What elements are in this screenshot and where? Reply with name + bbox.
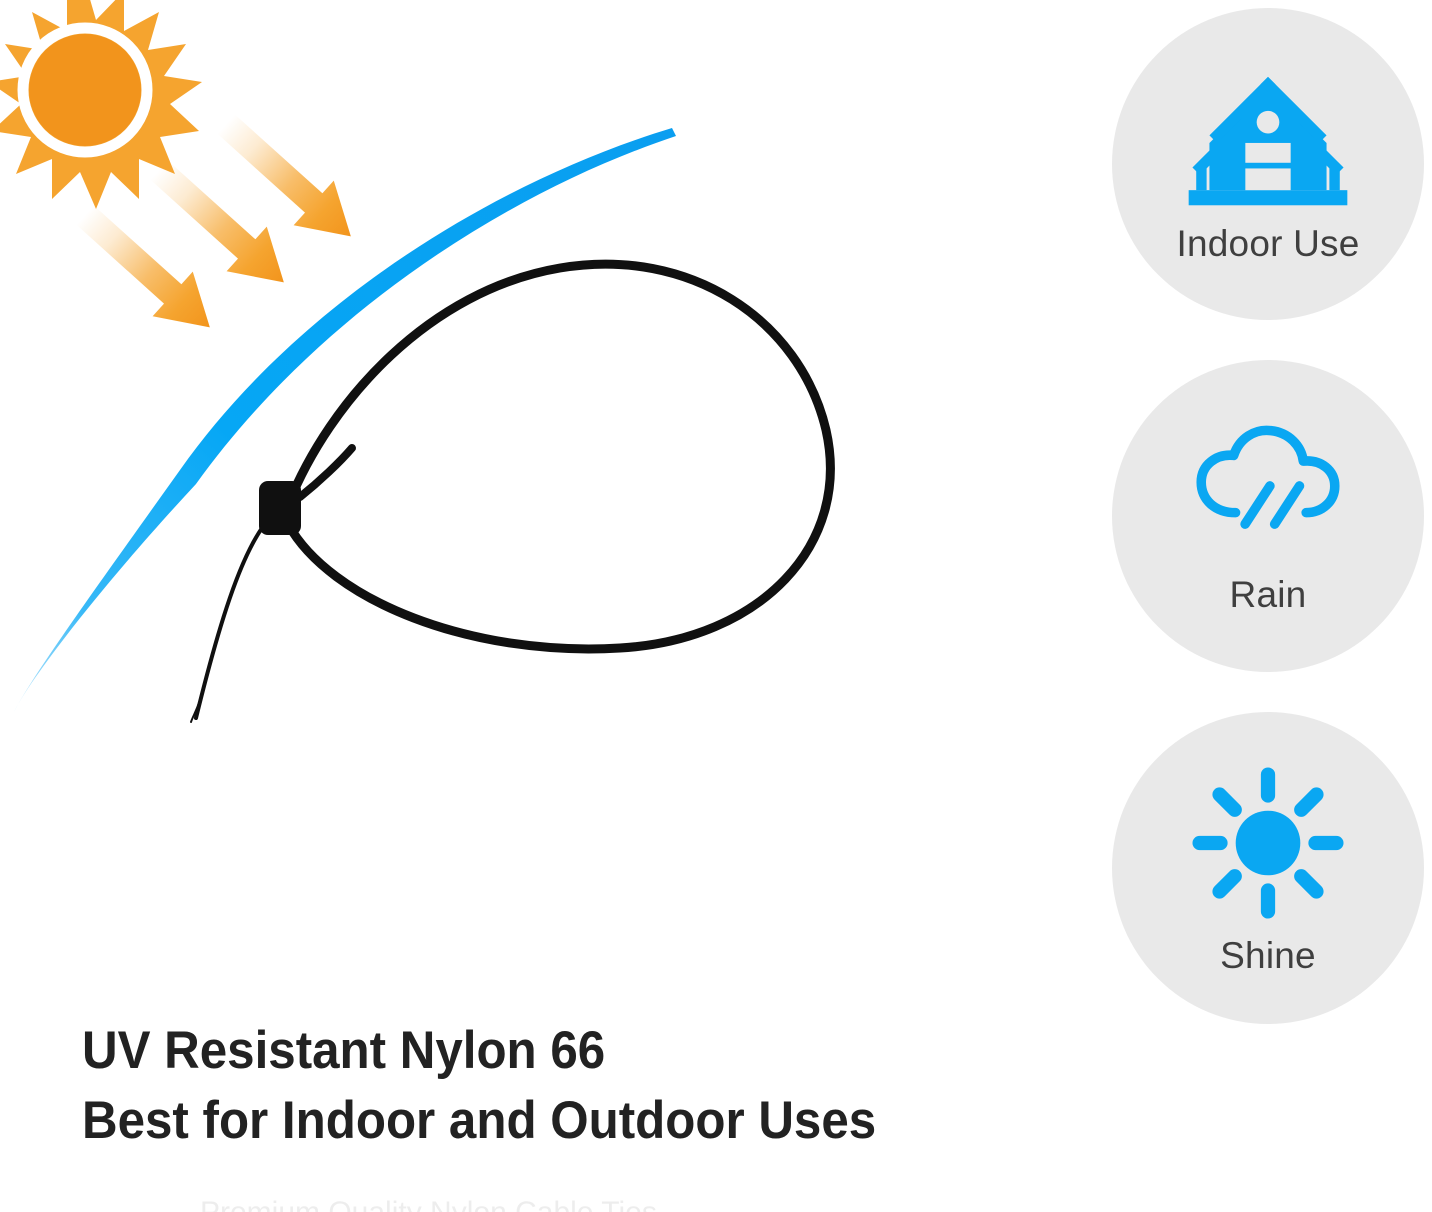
feature-badge-shine[interactable]: Shine xyxy=(1112,712,1424,1024)
feature-badge-rain[interactable]: Rain xyxy=(1112,360,1424,672)
cable-tie-tail xyxy=(196,528,262,718)
sun-disc xyxy=(29,34,141,146)
badge-label-indoor-use: Indoor Use xyxy=(1177,225,1360,262)
clipped-bottom-row: Premium Quality Nylon Cable Ties xyxy=(200,1196,1060,1212)
uv-resistance-illustration xyxy=(0,0,1080,1000)
feature-badge-indoor-use[interactable]: Indoor Use xyxy=(1112,8,1424,320)
cable-tie-graphic xyxy=(191,264,830,722)
badge-label-rain: Rain xyxy=(1230,576,1307,613)
product-infographic: Indoor Use Rain xyxy=(0,0,1432,1212)
house-icon xyxy=(1183,67,1353,217)
rain-cloud-icon xyxy=(1183,420,1353,550)
blue-shield-arc xyxy=(14,128,676,712)
headline-block: UV Resistant Nylon 66 Best for Indoor an… xyxy=(82,1016,1082,1156)
cable-tie-head xyxy=(259,481,301,535)
feature-badge-column: Indoor Use Rain xyxy=(1112,8,1424,1024)
badge-label-shine: Shine xyxy=(1220,937,1316,974)
shine-core xyxy=(1236,810,1301,875)
clipped-bottom-text: Premium Quality Nylon Cable Ties xyxy=(200,1196,1060,1212)
headline-line-2: Best for Indoor and Outdoor Uses xyxy=(82,1086,1012,1156)
sun-shine-icon xyxy=(1188,763,1348,923)
headline-line-1: UV Resistant Nylon 66 xyxy=(82,1016,1012,1086)
cable-tie-loop xyxy=(288,264,830,649)
